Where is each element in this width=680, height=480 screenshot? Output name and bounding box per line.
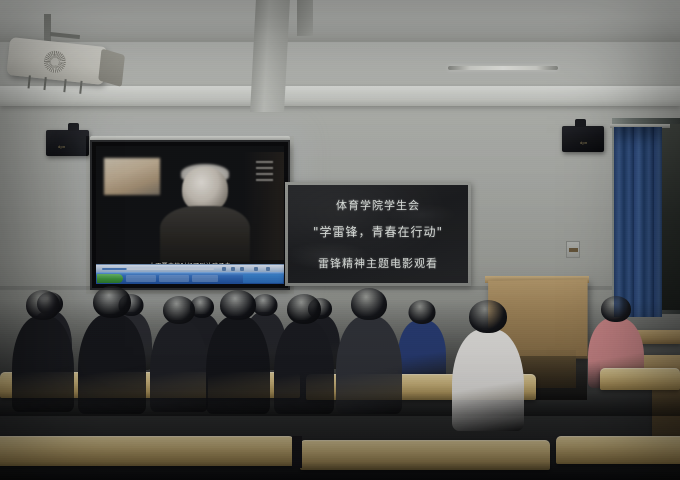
speaker-mount-bracket [68, 123, 79, 131]
blackboard-line-2: "学雷锋，青春在行动" [288, 223, 468, 240]
wall-speaker-right: dpn [562, 126, 604, 152]
student-front-1 [12, 290, 74, 416]
start-button[interactable] [97, 274, 123, 283]
speaker-brand-label: dpn [580, 140, 588, 145]
student-front-4 [206, 290, 270, 418]
wall-switch-panel[interactable] [566, 241, 580, 258]
person-torso [452, 329, 524, 431]
pause-button-icon[interactable] [231, 267, 235, 271]
bench-row-front-far-right [556, 436, 680, 464]
person-torso [150, 320, 208, 412]
blackboard: 体育学院学生会 "学雷锋，青春在行动" 雷锋精神主题电影观看 [288, 185, 468, 283]
speaker-mount-bracket [575, 119, 586, 127]
student-front-2 [78, 286, 146, 418]
lecture-hall-photo: dpn dpn 大雨要来的时候可别让孩子走 But the rain reall… [0, 0, 680, 480]
person-torso [336, 316, 402, 414]
volume-icon[interactable] [254, 267, 258, 271]
projection-screen: 大雨要来的时候可别让孩子走 But the rain really hard, … [92, 142, 288, 288]
blackboard-line-3: 雷锋精神主题电影观看 [288, 255, 468, 271]
taskbar-item[interactable] [159, 275, 189, 282]
person-head [601, 296, 631, 322]
person-torso [12, 316, 74, 412]
projection-screen-surface: 大雨要来的时候可别让孩子走 But the rain really hard, … [96, 146, 284, 284]
person-head [351, 288, 387, 320]
person-torso [274, 320, 334, 414]
student-front-3 [150, 296, 208, 416]
playback-progress-slider[interactable] [102, 268, 214, 270]
bench-row-back-far-right [600, 368, 680, 390]
person-torso [78, 314, 146, 414]
ceiling-soffit [0, 86, 680, 106]
windows-taskbar[interactable] [96, 272, 284, 284]
person-torso [206, 316, 270, 414]
fluorescent-tube-light [448, 66, 558, 70]
movie-frame-image [96, 152, 284, 260]
stop-button-icon[interactable] [240, 267, 244, 271]
projector-mount-pole [44, 14, 51, 42]
person-head [469, 300, 507, 333]
blue-curtain[interactable] [614, 127, 662, 317]
taskbar-item[interactable] [126, 275, 156, 282]
projector-vent-icon [43, 50, 67, 74]
wall-pillar [250, 0, 290, 112]
taskbar-item[interactable] [192, 275, 218, 282]
blackboard-frame: 体育学院学生会 "学雷锋，青春在行动" 雷锋精神主题电影观看 [285, 182, 471, 286]
movie-background-text [256, 161, 273, 185]
person-head [287, 294, 321, 324]
speaker-brand-label: dpn [58, 144, 66, 149]
person-head [220, 290, 256, 320]
movie-character-torso [160, 206, 250, 262]
student-front-6 [336, 288, 402, 418]
blackboard-line-1: 体育学院学生会 [288, 197, 468, 213]
person-head [26, 290, 60, 320]
student-front-5 [274, 294, 334, 418]
ceiling-beam [0, 16, 680, 42]
person-torso [398, 320, 446, 382]
system-tray[interactable] [243, 274, 283, 283]
student-front-7 [452, 300, 524, 435]
wall-pillar-secondary [297, 0, 313, 36]
wall-speaker-left: dpn [46, 130, 89, 156]
person-head [163, 296, 195, 324]
person-head [409, 300, 436, 324]
person-head [93, 286, 131, 318]
bench-row-shadow-front [0, 462, 680, 480]
fullscreen-icon[interactable] [266, 267, 270, 271]
play-button-icon[interactable] [222, 267, 226, 271]
movie-window-light [104, 158, 160, 195]
